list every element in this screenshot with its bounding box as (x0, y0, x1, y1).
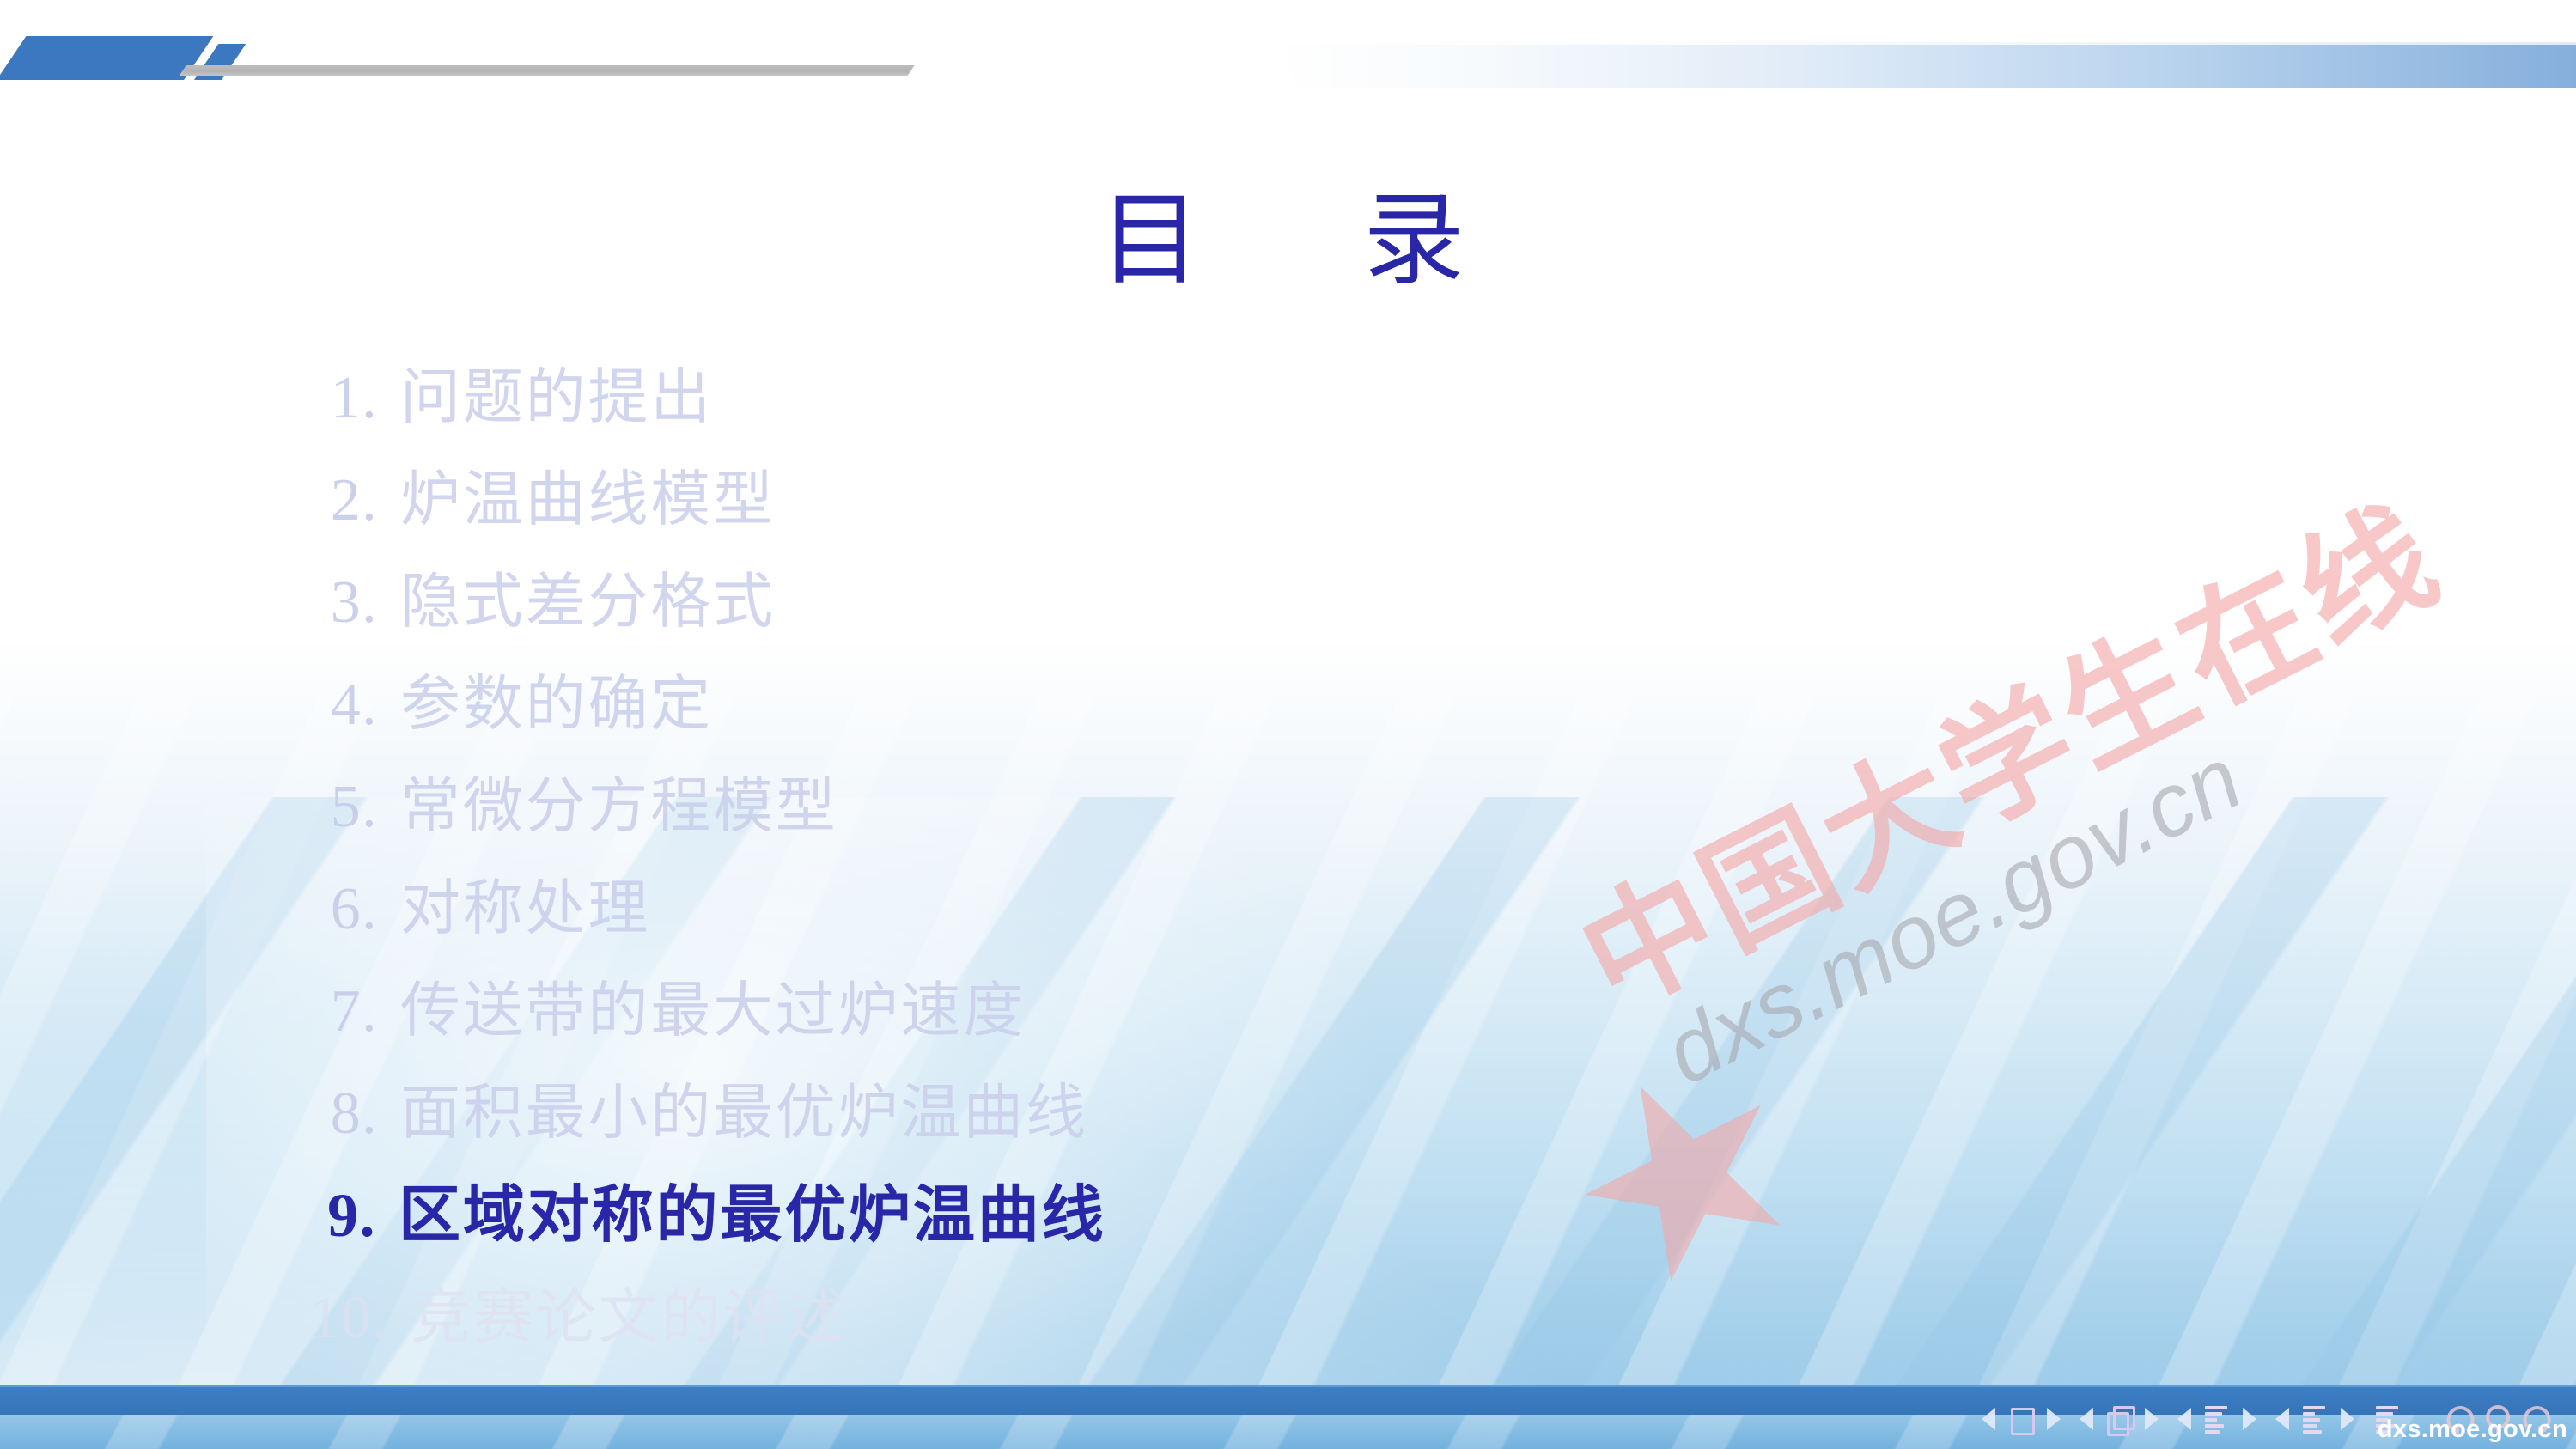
next-section-button[interactable] (2341, 1408, 2354, 1430)
toc-item-3[interactable]: 3. 隐式差分格式 (0, 551, 2576, 654)
prev-section-button[interactable] (2275, 1408, 2289, 1430)
toc-item-label: 参数的确定 (400, 654, 713, 756)
toc-item-number: 10. (283, 1267, 388, 1369)
toc-item-number: 5. (299, 756, 378, 858)
header-right-gradient-band (1270, 45, 2576, 88)
toc-item-number: 9. (297, 1165, 376, 1267)
toc-item-number: 3. (299, 551, 378, 654)
presentation-slide: 目 录 1. 问题的提出 2. 炉温曲线模型 3. 隐式差分格式 4. 参数的确… (0, 0, 2576, 1449)
toc-item-5[interactable]: 5. 常微分方程模型 (0, 756, 2576, 858)
next-outline-button[interactable] (2243, 1408, 2256, 1430)
toc-item-6[interactable]: 6. 对称处理 (0, 858, 2576, 960)
toc-item-2[interactable]: 2. 炉温曲线模型 (0, 449, 2576, 551)
toc-item-4[interactable]: 4. 参数的确定 (0, 654, 2576, 756)
next-page-button[interactable] (2047, 1408, 2061, 1430)
toc-item-label: 炉温曲线模型 (400, 449, 776, 551)
toc-item-label: 对称处理 (400, 858, 650, 960)
toc-item-label: 传送带的最大过炉速度 (400, 960, 1026, 1062)
page-title: 目 录 (0, 191, 2576, 292)
toc-item-8[interactable]: 8. 面积最小的最优炉温曲线 (0, 1062, 2576, 1165)
toolbar-group-pages-stack (2080, 1405, 2159, 1433)
header-gray-rule (179, 65, 915, 76)
page-icon[interactable] (2007, 1405, 2036, 1433)
toc-item-number: 8. (299, 1062, 378, 1165)
toolbar-group-page (1982, 1405, 2061, 1433)
prev-view-button[interactable] (2080, 1408, 2093, 1430)
toc-item-1[interactable]: 1. 问题的提出 (0, 347, 2576, 449)
toolbar-group-outline (2177, 1405, 2256, 1433)
next-view-button[interactable] (2145, 1408, 2159, 1430)
toolbar-group-text-lines (2275, 1405, 2354, 1433)
toc-item-label: 隐式差分格式 (400, 551, 776, 654)
text-lines-icon[interactable] (2300, 1405, 2329, 1433)
pages-stack-icon[interactable] (2104, 1405, 2134, 1433)
toc-item-label: 问题的提出 (400, 347, 713, 449)
prev-page-button[interactable] (1982, 1408, 1995, 1430)
outline-icon[interactable] (2202, 1405, 2232, 1433)
toolbar-brand: dxs.moe.gov.cn (2378, 1416, 2567, 1444)
prev-outline-button[interactable] (2177, 1408, 2191, 1430)
toc-item-number: 4. (299, 654, 378, 756)
toc-item-label: 常微分方程模型 (400, 756, 838, 858)
toc-item-number: 7. (299, 960, 378, 1062)
toc-item-7[interactable]: 7. 传送带的最大过炉速度 (0, 960, 2576, 1062)
table-of-contents: 1. 问题的提出 2. 炉温曲线模型 3. 隐式差分格式 4. 参数的确定 5.… (0, 347, 2576, 1369)
toc-item-label: 竞赛论文的评述 (411, 1267, 849, 1369)
toc-item-number: 2. (299, 449, 378, 551)
toc-item-10[interactable]: 10. 竞赛论文的评述 (0, 1267, 2576, 1369)
toc-item-number: 6. (299, 858, 378, 960)
toc-item-label: 区域对称的最优炉温曲线 (399, 1165, 1106, 1267)
toc-item-number: 1. (299, 347, 378, 449)
toc-item-9-active[interactable]: 9. 区域对称的最优炉温曲线 (0, 1165, 2576, 1267)
toc-item-label: 面积最小的最优炉温曲线 (400, 1062, 1088, 1165)
